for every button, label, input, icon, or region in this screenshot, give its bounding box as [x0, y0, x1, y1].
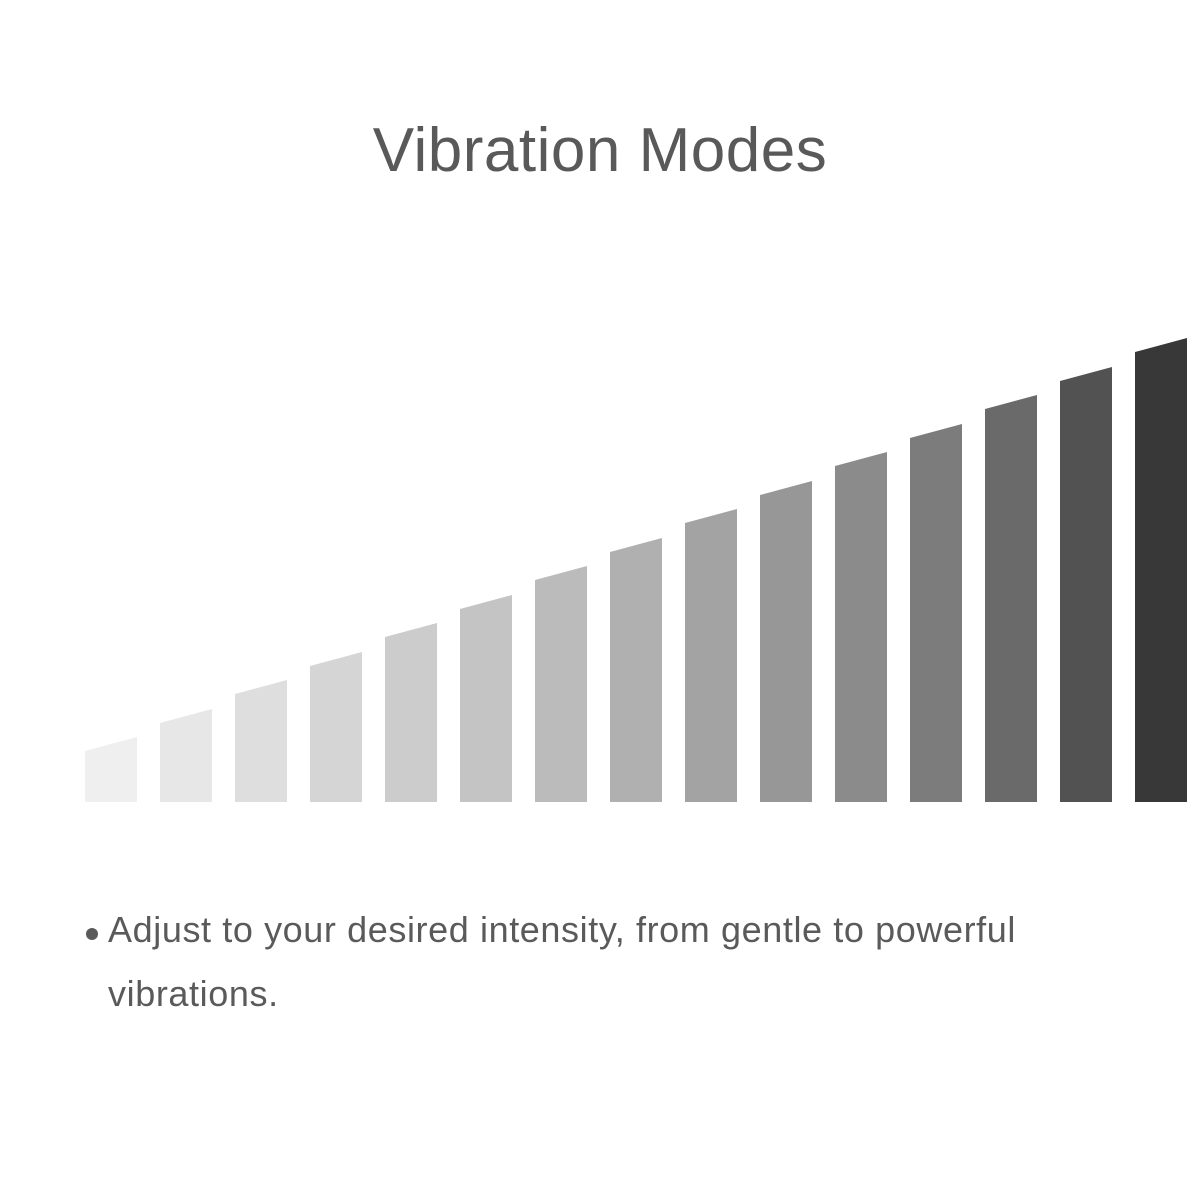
bar-12: [910, 424, 962, 802]
bullet-dot-icon: [86, 928, 98, 940]
bar-6: [460, 595, 512, 802]
list-item: Adjust to your desired intensity, from g…: [86, 898, 1066, 1026]
bar-7: [535, 566, 587, 802]
bar-10: [760, 481, 812, 802]
bullet-list: Adjust to your desired intensity, from g…: [86, 898, 1066, 1026]
bars-group: [85, 338, 1187, 802]
bar-14: [1060, 367, 1112, 802]
bar-5: [385, 623, 437, 802]
page-title: Vibration Modes: [0, 118, 1200, 183]
bar-11: [835, 452, 887, 802]
bar-9: [685, 509, 737, 802]
bar-1: [85, 737, 137, 802]
bar-4: [310, 652, 362, 802]
slide-canvas: Vibration Modes Adjust to your desired i…: [0, 0, 1200, 1200]
bar-3: [235, 680, 287, 802]
bar-15: [1135, 338, 1187, 802]
bar-8: [610, 538, 662, 802]
bar-2: [160, 709, 212, 802]
bar-13: [985, 395, 1037, 802]
bullet-text: Adjust to your desired intensity, from g…: [108, 898, 1066, 1026]
